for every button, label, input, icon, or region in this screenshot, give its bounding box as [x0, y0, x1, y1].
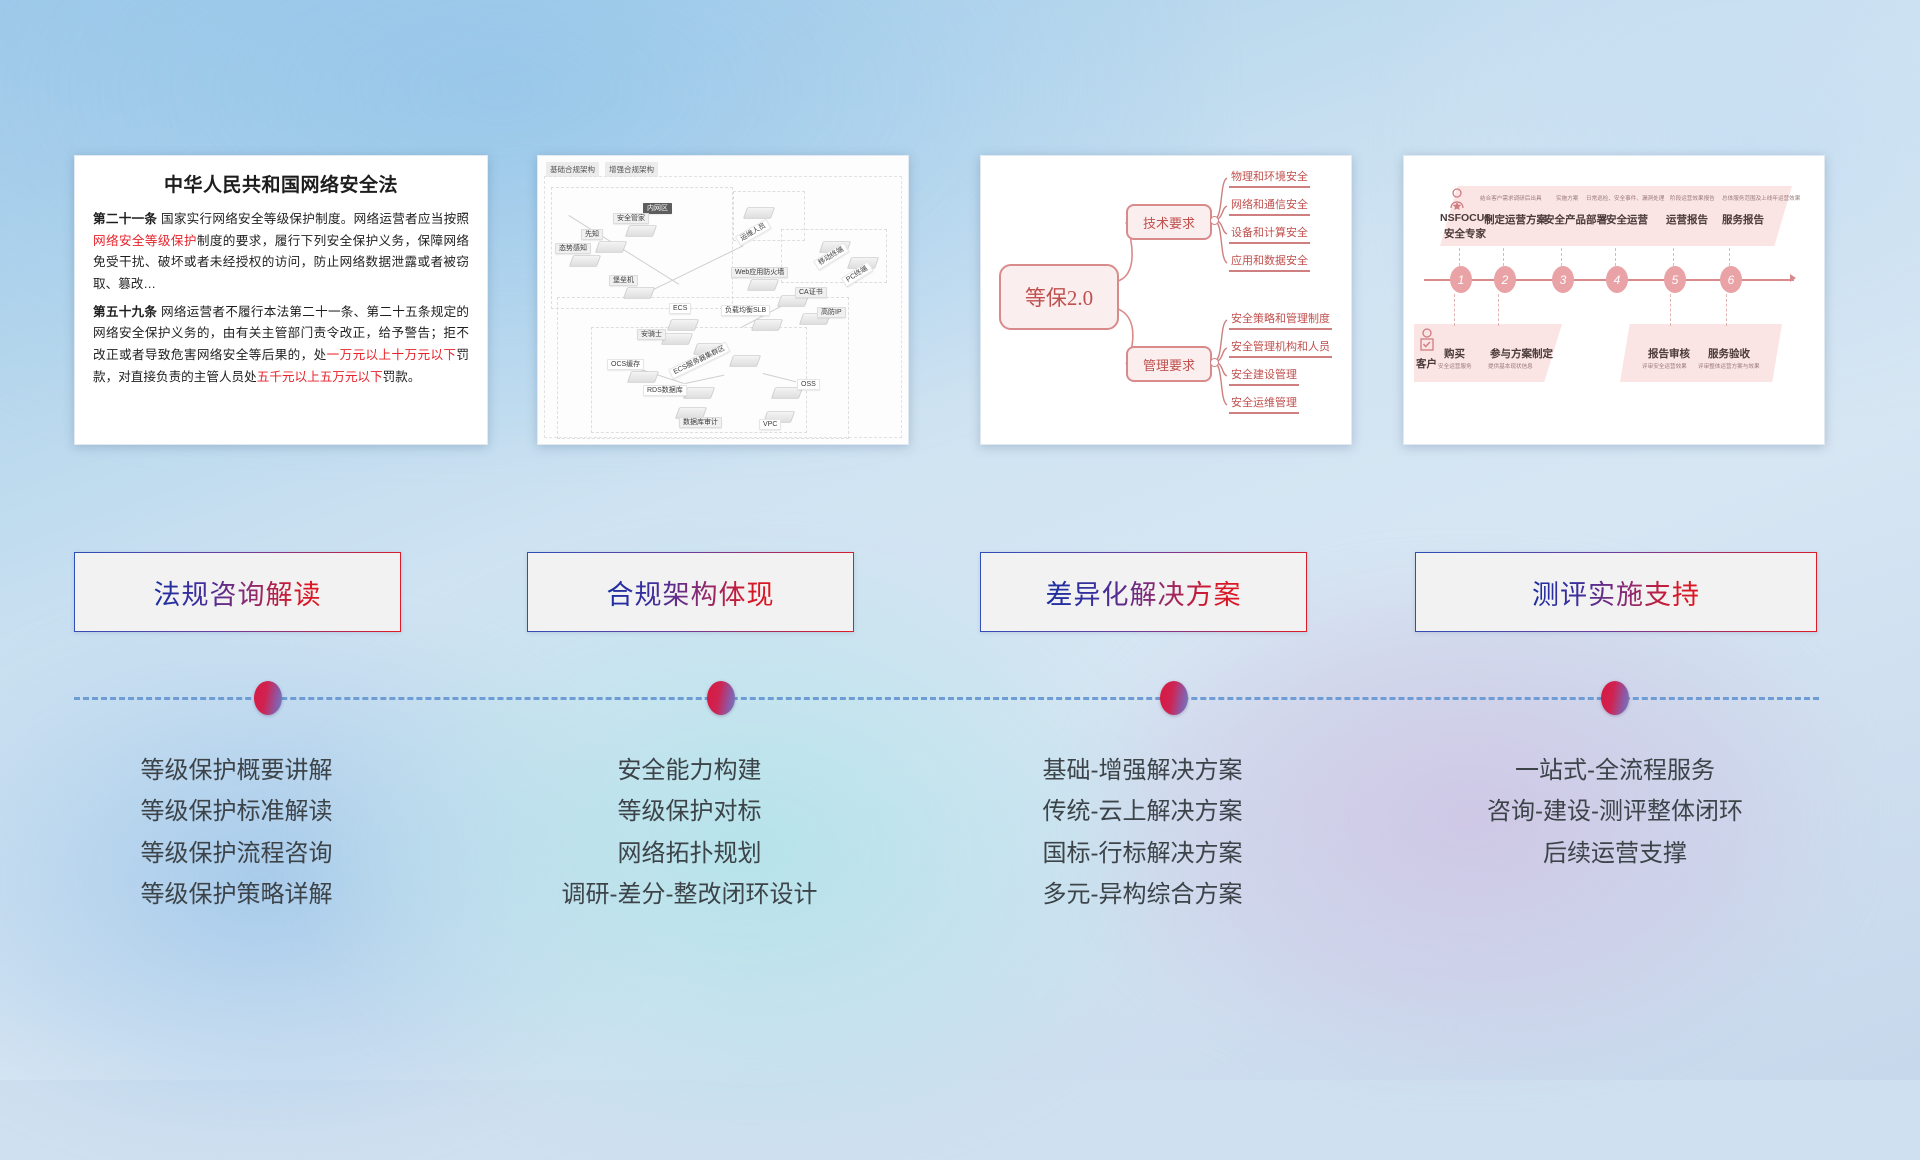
mindmap-leaf-tech-2: 设备和计算安全 [1229, 224, 1310, 244]
mindmap-branch-management: 管理要求 [1126, 346, 1212, 382]
timeline-node-2[interactable]: 2 [1494, 266, 1516, 293]
timeline-tick-b4 [1726, 294, 1727, 326]
device-waf [747, 279, 779, 291]
timeline-bottom-caption-1: 参与方案制定 [1490, 346, 1553, 361]
section-item-2-2: 网络拓扑规划 [527, 833, 852, 874]
timeline-sub-2: 结合客户需求调研后出具 [1480, 194, 1542, 202]
section-item-1-2: 等级保护流程咨询 [74, 833, 399, 874]
timeline-node-1[interactable]: 1 [1450, 266, 1472, 293]
timeline-node-3[interactable]: 3 [1552, 266, 1574, 293]
arch-label-waf: Web应用防火墙 [731, 267, 788, 277]
mindmap-leaf-mgmt-1: 安全管理机构和人员 [1229, 338, 1332, 358]
device-situational-awareness [569, 255, 601, 267]
section-items-2: 安全能力构建 等级保护对标 网络拓扑规划 调研-差分-整改闭环设计 [527, 750, 852, 915]
section-item-1-0: 等级保护概要讲解 [74, 750, 399, 791]
mindmap-leaf-tech-0: 物理和环境安全 [1229, 168, 1310, 188]
timeline-sub-3: 实施方案 [1556, 194, 1578, 202]
article-59-run-4: 罚款。 [383, 370, 421, 384]
timeline-bottom-caption-2: 报告审核 [1648, 346, 1690, 361]
architecture-tabs: 基础合规架构 增强合规架构 [546, 162, 658, 177]
timeline-node-4[interactable]: 4 [1606, 266, 1628, 293]
mindmap-leaf-mgmt-3: 安全运维管理 [1229, 394, 1299, 414]
timeline-caption-3: 安全产品部署 [1544, 212, 1607, 227]
arch-label-ecs: ECS [669, 305, 691, 312]
mindmap-root: 等保2.0 [999, 264, 1119, 330]
section-items-4: 一站式-全流程服务 咨询-建设-测评整体闭环 后续运营支撑 [1415, 750, 1815, 874]
section-heading-box-1[interactable]: 法规咨询解读 [74, 552, 401, 632]
timeline-top-actor-subtitle: 安全专家 [1444, 226, 1486, 241]
mindmap-leaf-tech-1: 网络和通信安全 [1229, 196, 1310, 216]
arch-label-ca: CA证书 [795, 287, 827, 297]
timeline-sub-6: 总体服务范围及上线年运营效果 [1722, 194, 1800, 202]
timeline-tick-b3 [1670, 294, 1671, 326]
section-item-2-1: 等级保护对标 [527, 791, 852, 832]
arch-label-anqishi: 安骑士 [637, 329, 666, 339]
timeline-caption-4: 安全运营 [1606, 212, 1648, 227]
timeline-bottom-caption-0: 购买 [1444, 346, 1465, 361]
section-heading-label-1: 法规咨询解读 [154, 573, 322, 612]
timeline-caption-6: 服务报告 [1722, 212, 1764, 227]
customer-person-icon [1418, 328, 1436, 352]
arch-label-vpc: VPC [759, 421, 781, 428]
timeline-marker-1[interactable] [254, 681, 282, 715]
timeline-bottom-sub-3: 评审整体运营方案与效果 [1698, 362, 1760, 370]
law-article-21: 第二十一条 国家实行网络安全等级保护制度。网络运营者应当按照网络安全等级保护制度… [93, 209, 469, 296]
mindmap-leaf-tech-3: 应用和数据安全 [1229, 252, 1310, 272]
section-item-4-1: 咨询-建设-测评整体闭环 [1415, 791, 1815, 832]
article-59-run-3: 五千元以上五万元以下 [257, 370, 383, 384]
arch-label-slb: 负载均衡SLB [721, 305, 770, 315]
article-21-run-1: 网络安全等级保护 [93, 234, 197, 248]
section-item-1-3: 等级保护策略详解 [74, 874, 399, 915]
timeline-tick-b2 [1498, 294, 1499, 326]
article-59-run-1: 一万元以上十万元以下 [327, 348, 457, 362]
timeline-caption-5: 运营报告 [1666, 212, 1708, 227]
section-item-1-1: 等级保护标准解读 [74, 791, 399, 832]
section-heading-box-3[interactable]: 差异化解决方案 [980, 552, 1307, 632]
article-21-run-0: 国家实行网络安全等级保护制度。网络运营者应当按照 [157, 212, 469, 226]
section-heading-label-4: 测评实施支持 [1532, 573, 1700, 612]
nsfocus-timeline-card[interactable]: NSFOCUS 安全专家 1 2 3 4 5 6 结合客户需求调研后出具 [1403, 155, 1825, 445]
arch-label-oss: OSS [797, 381, 820, 388]
mindmap-leaf-mgmt-2: 安全建设管理 [1229, 366, 1299, 386]
section-heading-box-2[interactable]: 合规架构体现 [527, 552, 854, 632]
dengbao-mindmap-card[interactable]: 等保2.0 技术要求 物理和环境安全 网络和通信安全 设备和计算安全 应用和数据… [980, 155, 1352, 445]
timeline-sub-4: 日常巡检、安全事件、漏洞处理 [1586, 194, 1664, 202]
arch-label-xianzhi: 先知 [581, 229, 603, 239]
device-bastion [623, 287, 655, 299]
timeline-caption-2: 制定运营方案 [1484, 212, 1547, 227]
section-item-3-2: 国标-行标解决方案 [980, 833, 1305, 874]
law-body: 中华人民共和国网络安全法 第二十一条 国家实行网络安全等级保护制度。网络运营者应… [75, 156, 487, 444]
timeline-dashed-line [74, 697, 1819, 700]
architecture-diagram: 基础合规架构 增强合规架构 [538, 156, 908, 444]
mindmap: 等保2.0 技术要求 物理和环境安全 网络和通信安全 设备和计算安全 应用和数据… [981, 156, 1351, 444]
device-xianzhi [595, 241, 627, 253]
article-21-label: 第二十一条 [93, 212, 157, 226]
cloud-architecture-card[interactable]: 基础合规架构 增强合规架构 [537, 155, 909, 445]
section-item-3-0: 基础-增强解决方案 [980, 750, 1305, 791]
timeline-bottom-actor-title: 客户 [1416, 356, 1437, 371]
architecture-canvas: 内网区 安全管家 先知 态势感知 堡垒机 运维人员 Web应用防火墙 CA证书 … [544, 176, 902, 438]
arch-label-ocs: OCS缓存 [607, 359, 644, 369]
tab-basic-compliance[interactable]: 基础合规架构 [546, 162, 599, 177]
arch-label-db-audit: 数据库审计 [679, 417, 722, 427]
timeline-tick-b1 [1454, 294, 1455, 326]
law-article-59: 第五十九条 网络运营者不履行本法第二十一条、第二十五条规定的网络安全保护义务的，… [93, 302, 469, 389]
section-item-2-0: 安全能力构建 [527, 750, 852, 791]
mindmap-leaf-mgmt-0: 安全策略和管理制度 [1229, 310, 1332, 330]
nsfocus-timeline: NSFOCUS 安全专家 1 2 3 4 5 6 结合客户需求调研后出具 [1404, 156, 1824, 444]
arch-label-internal-zone: 内网区 [643, 203, 672, 213]
section-items-1: 等级保护概要讲解 等级保护标准解读 等级保护流程咨询 等级保护策略详解 [74, 750, 399, 915]
section-item-3-1: 传统-云上解决方案 [980, 791, 1305, 832]
section-item-3-3: 多元-异构综合方案 [980, 874, 1305, 915]
timeline-node-5[interactable]: 5 [1664, 266, 1686, 293]
timeline-marker-2[interactable] [707, 681, 735, 715]
device-ecs-3 [729, 355, 761, 367]
mindmap-collapse-icon-tech[interactable] [1210, 216, 1219, 225]
timeline-bottom-caption-3: 服务验收 [1708, 346, 1750, 361]
device-ocs [627, 371, 659, 383]
expert-person-icon [1448, 188, 1466, 210]
section-item-2-3: 调研-差分-整改闭环设计 [527, 874, 852, 915]
timeline-bottom-sub-0: 安全运营服务 [1438, 362, 1472, 370]
device-security-steward [625, 225, 657, 237]
section-heading-label-3: 差异化解决方案 [1046, 573, 1242, 612]
section-item-4-2: 后续运营支撑 [1415, 833, 1815, 874]
cybersecurity-law-card[interactable]: 中华人民共和国网络安全法 第二十一条 国家实行网络安全等级保护制度。网络运营者应… [74, 155, 488, 445]
article-59-label: 第五十九条 [93, 305, 157, 319]
section-item-4-0: 一站式-全流程服务 [1415, 750, 1815, 791]
timeline-bottom-sub-1: 提供基本现状信息 [1488, 362, 1533, 370]
arch-label-security-steward: 安全管家 [613, 213, 649, 223]
mindmap-collapse-icon-mgmt[interactable] [1210, 358, 1219, 367]
arch-label-rds: RDS数据库 [643, 385, 687, 395]
timeline-axis-arrow-icon [1790, 274, 1796, 282]
section-heading-label-2: 合规架构体现 [607, 573, 775, 612]
section-heading-box-4[interactable]: 测评实施支持 [1415, 552, 1817, 632]
timeline-bottom-sub-2: 评审安全运营效果 [1642, 362, 1687, 370]
device-ops-user [743, 207, 775, 219]
device-rds [683, 387, 715, 399]
tab-enhanced-compliance[interactable]: 增强合规架构 [605, 162, 658, 177]
timeline-band-bottom-right [1620, 324, 1782, 382]
arch-label-bastion: 堡垒机 [609, 275, 638, 285]
device-ecs-1 [667, 319, 699, 331]
mindmap-branch-technical: 技术要求 [1126, 204, 1212, 240]
law-title: 中华人民共和国网络安全法 [93, 170, 469, 197]
device-slb [751, 319, 783, 331]
timeline-marker-4[interactable] [1601, 681, 1629, 715]
slide-stage: 中华人民共和国网络安全法 第二十一条 国家实行网络安全等级保护制度。网络运营者应… [0, 0, 1920, 1080]
section-items-3: 基础-增强解决方案 传统-云上解决方案 国标-行标解决方案 多元-异构综合方案 [980, 750, 1305, 915]
arch-label-situational-awareness: 态势感知 [555, 243, 591, 253]
timeline-marker-3[interactable] [1160, 681, 1188, 715]
timeline-sub-5: 阶段运营效果报告 [1670, 194, 1715, 202]
arch-label-anti-ddos: 高防IP [817, 307, 846, 317]
timeline-node-6[interactable]: 6 [1720, 266, 1742, 293]
